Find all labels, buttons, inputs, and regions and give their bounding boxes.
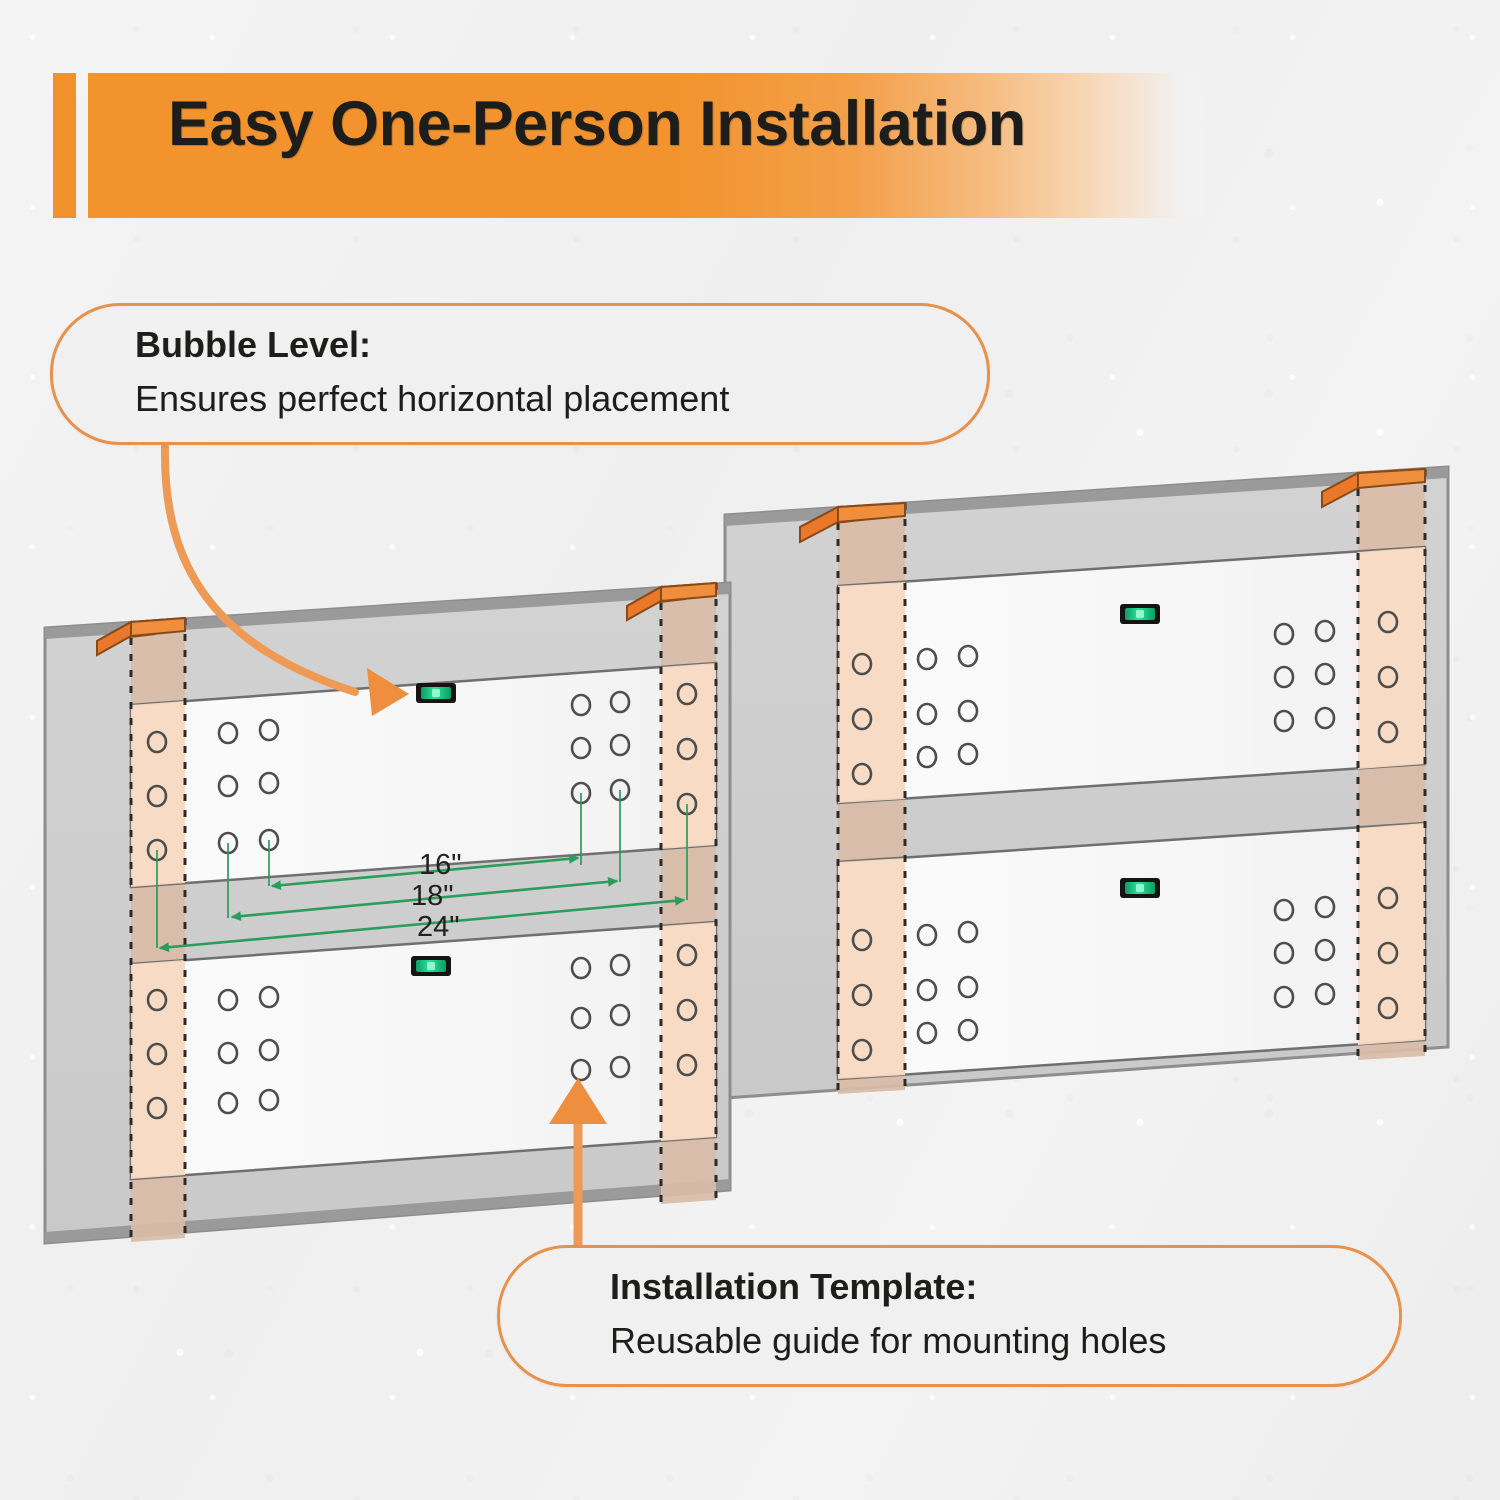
dimension-label-16: 16" [419,849,462,882]
bubble-level-icon [416,683,456,703]
callout-bubble-level: Bubble Level: Ensures perfect horizontal… [50,303,990,445]
bubble-level-icon [1120,604,1160,624]
callout-installation-template-title: Installation Template: [610,1266,977,1308]
infographic-page: Easy One-Person Installation Bubble Leve… [0,0,1500,1500]
callout-bubble-level-title: Bubble Level: [135,324,371,366]
header-banner: Easy One-Person Installation [0,0,1500,230]
callout-bubble-level-subtitle: Ensures perfect horizontal placement [135,378,729,420]
callout-installation-template-subtitle: Reusable guide for mounting holes [610,1320,1166,1362]
callout-installation-template: Installation Template: Reusable guide fo… [497,1245,1402,1387]
header-accent-bar [53,73,76,218]
bubble-level-icon [1120,878,1160,898]
page-title: Easy One-Person Installation [168,88,1026,160]
dimension-label-24: 24" [417,911,460,944]
dimension-label-18: 18" [411,880,454,913]
bubble-level-icon [411,956,451,976]
